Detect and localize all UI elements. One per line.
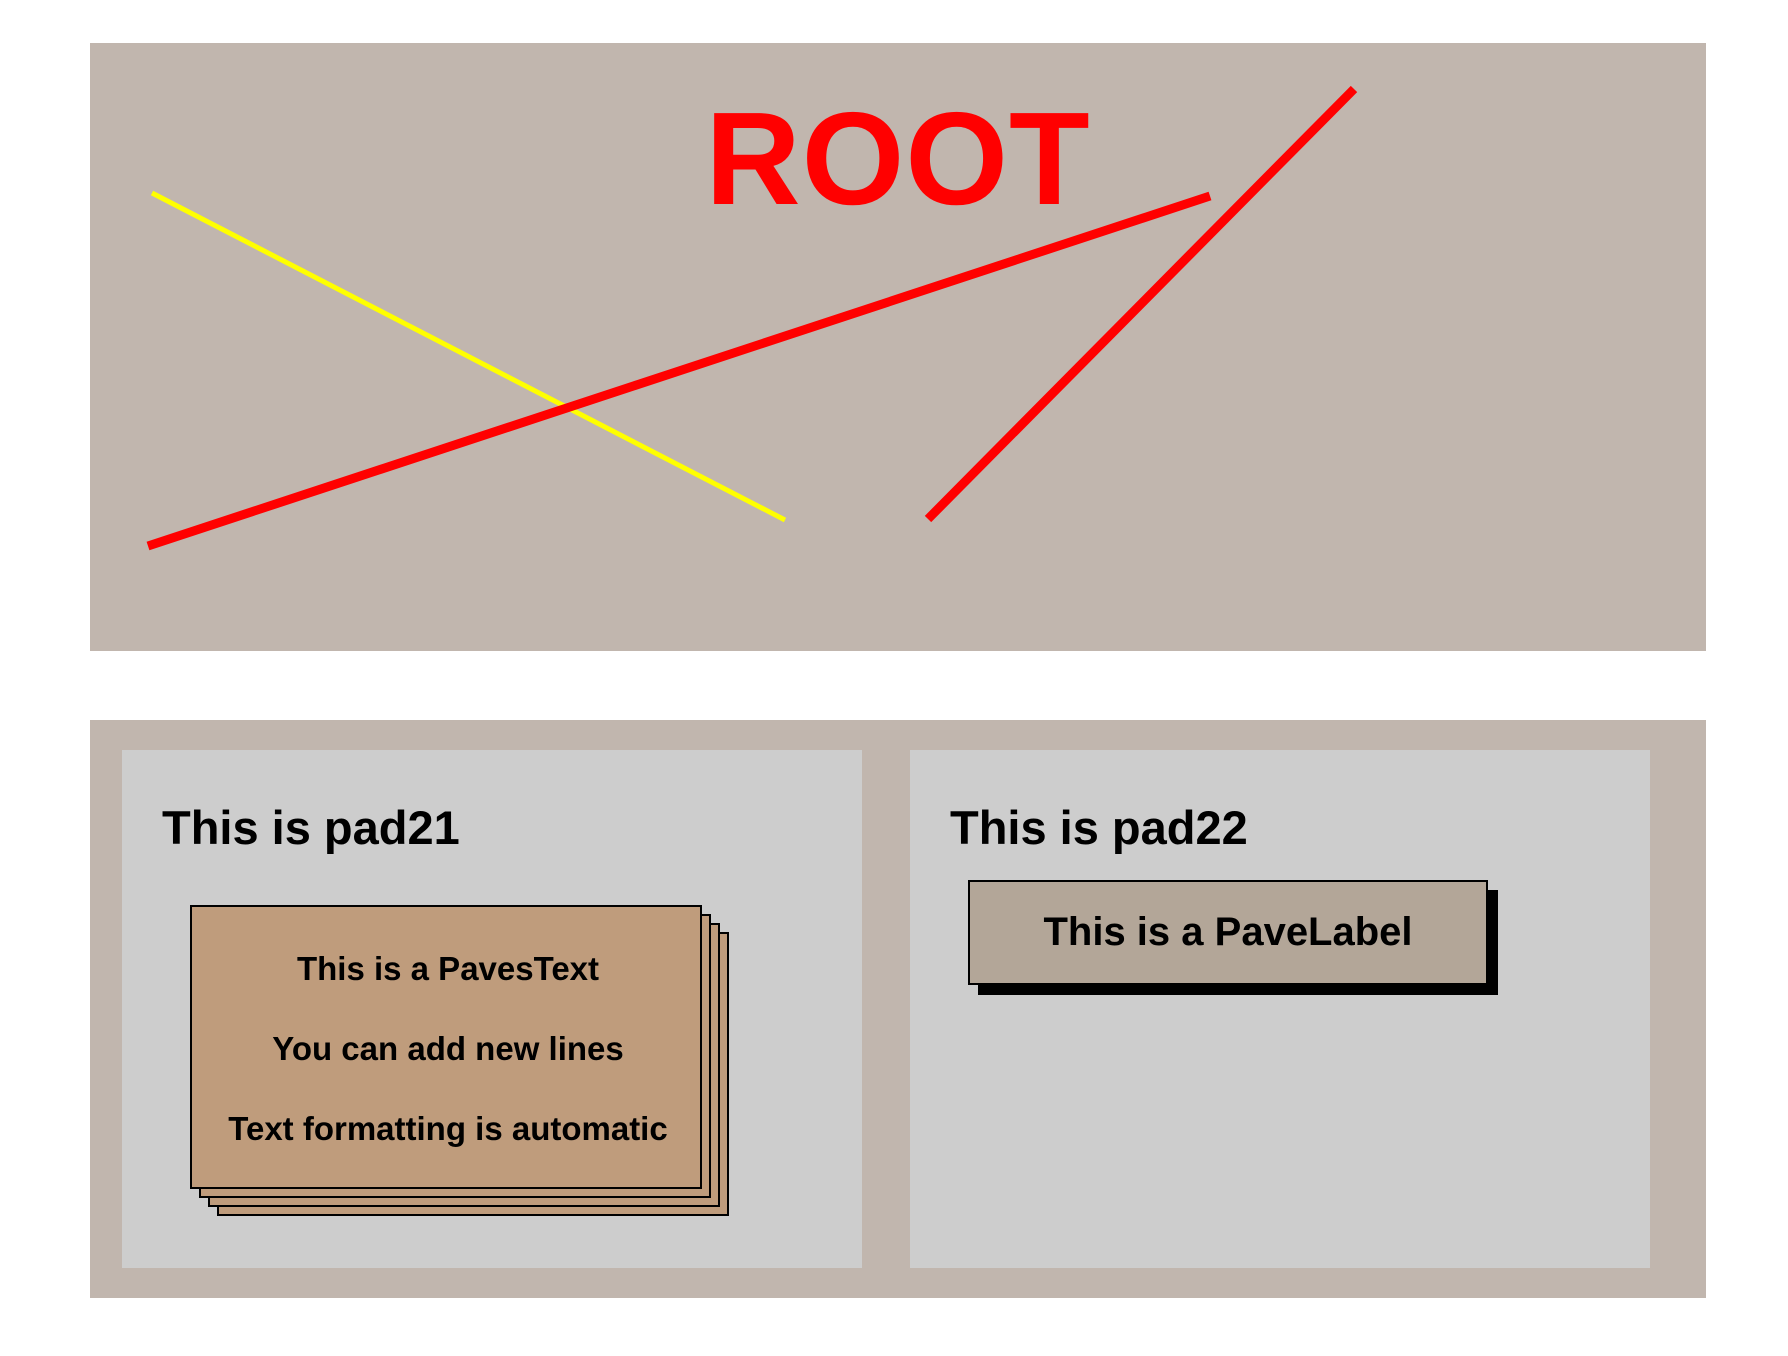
screenshot-stage: ROOT This is pad21 This is a PavesText Y…: [0, 0, 1788, 1356]
pave-label-text: This is a PaveLabel: [1043, 910, 1412, 955]
pave-label-object[interactable]: This is a PaveLabel: [968, 880, 1528, 1010]
pad-pad21[interactable]: This is pad21 This is a PavesText You ca…: [122, 750, 862, 1268]
paves-line-3: Text formatting is automatic: [228, 1110, 667, 1148]
root-title-text: ROOT: [90, 93, 1706, 225]
paves-line-1: This is a PavesText: [297, 950, 599, 988]
root-canvas-top[interactable]: ROOT: [90, 43, 1706, 651]
yellow-line: [152, 193, 785, 520]
paves-text-object[interactable]: This is a PavesText You can add new line…: [190, 905, 738, 1225]
pad21-title: This is pad21: [162, 800, 460, 855]
paves-text-body: This is a PavesText You can add new line…: [192, 907, 704, 1191]
root-canvas-bottom[interactable]: This is pad21 This is a PavesText You ca…: [90, 720, 1706, 1298]
pad22-title: This is pad22: [950, 800, 1248, 855]
pave-layer-1[interactable]: This is a PavesText You can add new line…: [190, 905, 702, 1189]
paves-line-2: You can add new lines: [272, 1030, 623, 1068]
pave-label-box[interactable]: This is a PaveLabel: [968, 880, 1488, 985]
pad-pad22[interactable]: This is pad22 This is a PaveLabel: [910, 750, 1650, 1268]
red-line-1: [148, 196, 1210, 546]
